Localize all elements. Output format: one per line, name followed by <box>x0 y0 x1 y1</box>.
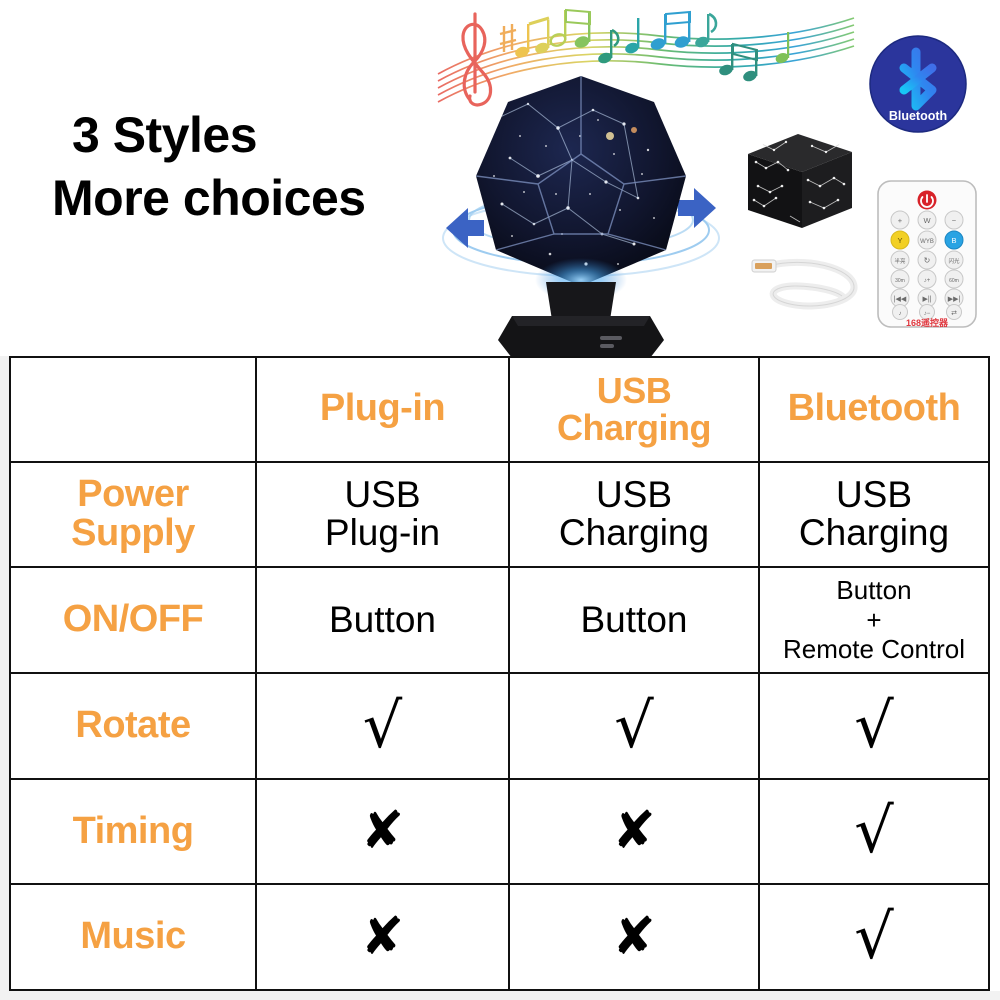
cell-power-plugin-line1: USB <box>261 476 504 515</box>
header-cell-usb-charging: USB Charging <box>509 357 759 462</box>
cell-power-bluetooth: USB Charging <box>759 462 989 568</box>
cross-mark-icon: ✘ <box>261 805 504 857</box>
table-row-timing: Timing ✘ ✘ √ <box>10 779 989 885</box>
row-label-onoff-line1: ON/OFF <box>15 600 251 640</box>
svg-text:|◀◀: |◀◀ <box>894 296 907 303</box>
product-comparison-page: 3 Styles More choices <box>0 0 1000 1000</box>
cell-onoff-bluetooth: Button + Remote Control <box>759 567 989 673</box>
check-mark-icon: √ <box>261 695 504 757</box>
row-label-music-line1: Music <box>15 917 251 957</box>
cell-onoff-usb: Button <box>509 567 759 673</box>
row-label-timing: Timing <box>10 779 256 885</box>
cell-power-bt-line1: USB <box>764 476 984 515</box>
svg-text:闪光: 闪光 <box>948 257 960 265</box>
row-label-timing-line1: Timing <box>15 812 251 852</box>
cell-rotate-bluetooth: √ <box>759 673 989 779</box>
remote-model-label: 168遥控器 <box>906 317 949 328</box>
cross-mark-icon: ✘ <box>514 805 754 857</box>
cell-power-usb-line1: USB <box>514 476 754 515</box>
usb-cable <box>746 248 868 314</box>
svg-text:WYB: WYB <box>920 239 934 245</box>
cross-mark-icon: ✘ <box>261 911 504 963</box>
check-mark-icon: √ <box>764 695 984 757</box>
svg-text:W: W <box>923 216 931 225</box>
svg-text:Y: Y <box>897 236 902 245</box>
cell-timing-usb: ✘ <box>509 779 759 885</box>
cell-timing-bluetooth: √ <box>759 779 989 885</box>
cell-power-usb-line2: Charging <box>514 514 754 553</box>
hero-section: 3 Styles More choices <box>0 0 1000 356</box>
header-cell-plugin: Plug-in <box>256 357 509 462</box>
cell-power-plugin: USB Plug-in <box>256 462 509 568</box>
cell-onoff-bt-line3: Remote Control <box>764 635 984 664</box>
svg-text:−: − <box>952 216 957 225</box>
svg-text:▶▶|: ▶▶| <box>948 296 961 303</box>
header-usb-line2: Charging <box>514 409 754 447</box>
table-header-row: Plug-in USB Charging Bluetooth <box>10 357 989 462</box>
header-bluetooth-line1: Bluetooth <box>764 389 984 429</box>
svg-text:30m: 30m <box>895 278 905 284</box>
cell-power-bt-line2: Charging <box>764 514 984 553</box>
cell-timing-plugin: ✘ <box>256 779 509 885</box>
headline-line-2: More choices <box>52 167 452 230</box>
check-mark-icon: √ <box>514 695 754 757</box>
header-cell-empty <box>10 357 256 462</box>
svg-text:B: B <box>951 236 956 245</box>
svg-text:⇄: ⇄ <box>951 310 957 317</box>
cross-mark-icon: ✘ <box>514 911 754 963</box>
headline-line-1: 3 Styles <box>52 104 452 167</box>
row-label-rotate-line1: Rotate <box>15 706 251 746</box>
check-mark-icon: √ <box>764 800 984 862</box>
cell-power-plugin-line2: Plug-in <box>261 514 504 553</box>
svg-text:60m: 60m <box>949 278 959 284</box>
check-mark-icon: √ <box>764 906 984 968</box>
cell-onoff-bt-line1: Button <box>764 576 984 605</box>
cell-onoff-usb-line1: Button <box>514 601 754 640</box>
cell-music-usb: ✘ <box>509 884 759 990</box>
cell-power-usb: USB Charging <box>509 462 759 568</box>
comparison-table: Plug-in USB Charging Bluetooth Power Sup… <box>9 356 990 991</box>
table-row-rotate: Rotate √ √ √ <box>10 673 989 779</box>
svg-text:♪+: ♪+ <box>924 278 931 284</box>
table-row-onoff: ON/OFF Button Button Button + Remote Con… <box>10 567 989 673</box>
svg-text:♪−: ♪− <box>924 311 931 317</box>
row-label-rotate: Rotate <box>10 673 256 779</box>
table-row-power-supply: Power Supply USB Plug-in USB Charging US… <box>10 462 989 568</box>
row-label-power-line1: Power <box>15 475 251 515</box>
header-cell-bluetooth: Bluetooth <box>759 357 989 462</box>
row-label-onoff: ON/OFF <box>10 567 256 673</box>
svg-text:+: + <box>898 216 903 225</box>
svg-text:♪: ♪ <box>899 311 902 317</box>
table-row-music: Music ✘ ✘ √ <box>10 884 989 990</box>
cell-music-plugin: ✘ <box>256 884 509 990</box>
header-usb-line1: USB <box>514 372 754 410</box>
cell-rotate-plugin: √ <box>256 673 509 779</box>
svg-text:▶||: ▶|| <box>922 296 931 303</box>
bluetooth-icon: Bluetooth <box>866 32 970 136</box>
row-label-music: Music <box>10 884 256 990</box>
page-title: 3 Styles More choices <box>52 104 452 229</box>
cell-rotate-usb: √ <box>509 673 759 779</box>
row-label-power-line2: Supply <box>15 514 251 554</box>
cell-music-bluetooth: √ <box>759 884 989 990</box>
star-projector-lamp <box>438 58 724 356</box>
cell-onoff-plugin-line1: Button <box>261 601 504 640</box>
cell-onoff-bt-line2: + <box>764 606 984 635</box>
header-plugin-line1: Plug-in <box>261 389 504 429</box>
svg-text:半亮: 半亮 <box>894 257 906 265</box>
remote-control: + W − Y WYB B 半亮 ↻ 闪光 30m ♪+ 60m |◀◀ ▶||… <box>872 178 982 330</box>
bluetooth-badge-label: Bluetooth <box>889 109 947 123</box>
constellation-gift-box <box>738 128 860 236</box>
row-label-power-supply: Power Supply <box>10 462 256 568</box>
svg-text:↻: ↻ <box>924 256 931 265</box>
cell-onoff-plugin: Button <box>256 567 509 673</box>
